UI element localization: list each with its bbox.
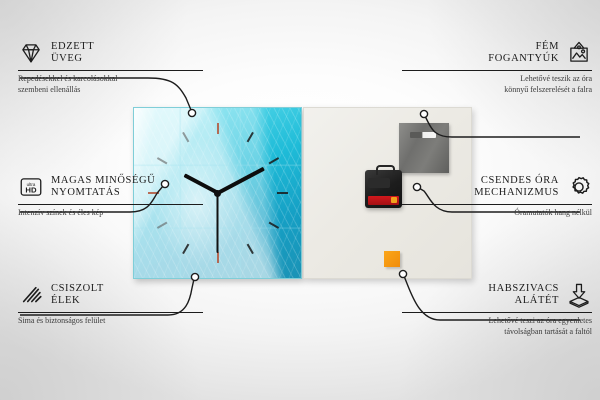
callout-title: MAGAS MINŐSÉGŰ NYOMTATÁS bbox=[51, 175, 155, 200]
ultra-hd-icon: ultra HD bbox=[18, 174, 44, 200]
diamond-icon bbox=[18, 40, 44, 66]
hanger-slot bbox=[410, 132, 436, 138]
clock-tick-4 bbox=[268, 222, 279, 229]
clock-tick-11 bbox=[182, 132, 189, 143]
callout-divider bbox=[402, 204, 592, 205]
callout-divider bbox=[402, 70, 592, 71]
callout-silent-mechanism: CSENDES ÓRA MECHANIZMUS Óramutatók hang … bbox=[402, 174, 592, 219]
callout-title: FÉM FOGANTYÚK bbox=[488, 41, 559, 66]
clock-mechanism-box bbox=[365, 170, 402, 208]
svg-text:HD: HD bbox=[25, 186, 37, 195]
callout-head: EDZETT ÜVEG bbox=[18, 40, 203, 66]
clock-tick-3 bbox=[277, 192, 288, 194]
callout-foam-spacer: HABSZIVACS ALÁTÉT Lehetővé teszi az óra … bbox=[402, 282, 592, 337]
callout-metal-handles: FÉM FOGANTYÚK Lehetővé teszik az óra kön… bbox=[402, 40, 592, 95]
battery bbox=[368, 196, 399, 205]
picture-hanger-icon bbox=[566, 40, 592, 66]
callout-divider bbox=[18, 312, 203, 313]
callout-head: HABSZIVACS ALÁTÉT bbox=[402, 282, 592, 308]
callout-description: Óramutatók hang nélkül bbox=[402, 208, 592, 219]
clock-tick-7 bbox=[182, 244, 189, 255]
callout-description: Intenzív színek és éles kép bbox=[18, 208, 203, 219]
callout-head: ultra HD MAGAS MINŐSÉGŰ NYOMTATÁS bbox=[18, 174, 203, 200]
battery-plus-terminal bbox=[391, 197, 397, 203]
gear-icon bbox=[566, 174, 592, 200]
callout-title: EDZETT ÜVEG bbox=[51, 41, 94, 66]
mechanism-hanging-loop bbox=[376, 165, 395, 175]
clock-center-cap bbox=[214, 190, 221, 197]
callout-description: Lehetővé teszi az óra egyenletes távolsá… bbox=[402, 316, 592, 337]
callout-description: Sima és biztonságos felület bbox=[18, 316, 203, 327]
foam-spacer-pad bbox=[384, 251, 400, 267]
callout-polished-edges: CSISZOLT ÉLEK Sima és biztonságos felüle… bbox=[18, 282, 203, 327]
clock-minute-hand bbox=[217, 167, 265, 195]
callout-divider bbox=[18, 70, 203, 71]
callout-head: CSENDES ÓRA MECHANIZMUS bbox=[402, 174, 592, 200]
clock-tick-12 bbox=[217, 123, 219, 134]
clock-tick-1 bbox=[246, 132, 253, 143]
callout-description: Repedésekkel és karcolásokkal szembeni e… bbox=[18, 74, 203, 95]
callout-divider bbox=[18, 204, 203, 205]
callout-head: FÉM FOGANTYÚK bbox=[402, 40, 592, 66]
callout-title: CSISZOLT ÉLEK bbox=[51, 283, 104, 308]
callout-head: CSISZOLT ÉLEK bbox=[18, 282, 203, 308]
clock-second-hand bbox=[217, 193, 219, 253]
callout-title: HABSZIVACS ALÁTÉT bbox=[488, 283, 559, 308]
callout-hd-print: ultra HD MAGAS MINŐSÉGŰ NYOMTATÁS Intenz… bbox=[18, 174, 203, 219]
callout-description: Lehetővé teszik az óra könnyű felszerelé… bbox=[402, 74, 592, 95]
clock-tick-6 bbox=[217, 252, 219, 263]
polished-edges-icon bbox=[18, 282, 44, 308]
infographic-canvas: EDZETT ÜVEG Repedésekkel és karcolásokka… bbox=[0, 0, 600, 400]
metal-hanger-plate bbox=[399, 123, 449, 173]
mechanism-ridge bbox=[368, 178, 390, 188]
callout-tempered-glass: EDZETT ÜVEG Repedésekkel és karcolásokka… bbox=[18, 40, 203, 95]
clock-tick-2 bbox=[268, 157, 279, 164]
clock-tick-5 bbox=[246, 244, 253, 255]
clock-tick-10 bbox=[156, 157, 167, 164]
callout-divider bbox=[402, 312, 592, 313]
callout-title: CSENDES ÓRA MECHANIZMUS bbox=[474, 175, 559, 200]
press-pad-icon bbox=[566, 282, 592, 308]
clock-tick-8 bbox=[156, 222, 167, 229]
